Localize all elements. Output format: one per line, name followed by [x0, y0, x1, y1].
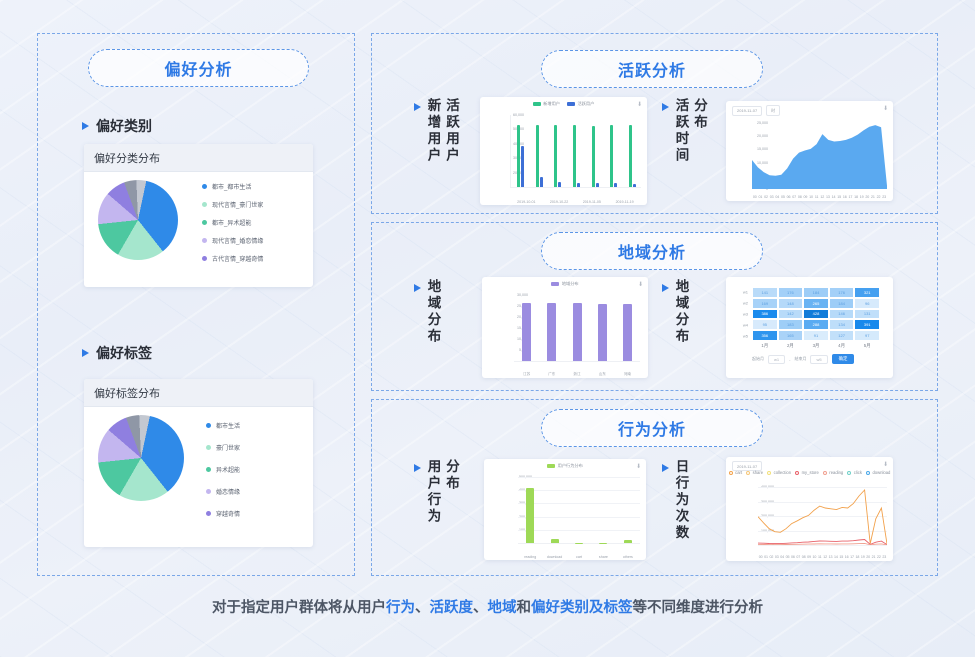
chart-legend: 地域分布	[482, 281, 648, 287]
legend-label: 现代言情_豪门世家	[212, 200, 263, 209]
section-title-preference: 偏好分析	[88, 49, 309, 87]
heatmap-column-labels: 1月2月3月4月5月	[752, 343, 880, 349]
bar	[547, 303, 556, 361]
heatmap-cell[interactable]: 141	[752, 287, 778, 298]
heatmap-cell[interactable]: 134	[829, 319, 855, 330]
legend-label: 现代言情_婚恋情缘	[212, 236, 263, 245]
legend-item: 古代言情_穿越奇情	[202, 254, 263, 263]
heatmap-cell[interactable]: 184	[829, 298, 855, 309]
heatmap-cell[interactable]: 184	[803, 287, 829, 298]
heading-daily-behavior-count: 日行为次数	[662, 459, 688, 542]
legend-item: 活跃用户	[567, 101, 594, 107]
legend-item: 穿越奇情	[206, 509, 240, 518]
legend-item: 地域分布	[551, 281, 578, 287]
bar	[573, 125, 576, 187]
pie-container	[98, 415, 184, 501]
triangle-bullet-icon	[662, 284, 669, 292]
heatmap-row-label: w5	[732, 333, 748, 338]
legend-item: reading	[823, 470, 843, 475]
heatmap-cell[interactable]: 91	[803, 330, 829, 341]
heatmap-geography: 1411761841763211691482651849638614242814…	[726, 277, 893, 378]
legend-item: 现代言情_豪门世家	[202, 200, 263, 209]
heatmap-cell[interactable]: 95	[752, 319, 778, 330]
legend-label: click	[854, 470, 862, 475]
card-title: 偏好标签分布	[84, 379, 313, 407]
legend-label: 穿越奇情	[216, 509, 240, 518]
heatmap-cell[interactable]: 356	[752, 330, 778, 341]
range-start-label: 起始月	[752, 356, 764, 362]
legend-label: 用户行为分布	[558, 463, 583, 469]
chart-legend: 用户行为分布	[484, 463, 646, 469]
triangle-bullet-icon	[82, 122, 89, 130]
x-axis-tick: others	[616, 555, 640, 559]
pie-chart-preference-tag: 都市生活豪门世家异术超能婚恋情缘穿越奇情	[84, 407, 313, 547]
heatmap-cell[interactable]: 146	[829, 309, 855, 320]
area-series	[752, 123, 887, 189]
legend-color-dot	[206, 445, 211, 450]
legend-label: 活跃用户	[578, 101, 595, 107]
download-icon[interactable]: ⬇	[638, 281, 643, 288]
legend-label: collection	[774, 470, 791, 475]
download-icon[interactable]: ⬇	[637, 101, 642, 108]
heading-label: 偏好类别	[96, 116, 152, 136]
card-active-time-area-chart: 2019-11-07时⬇25,00020,00015,00010,0005,00…	[726, 101, 893, 201]
bar	[614, 183, 617, 187]
triangle-bullet-icon	[662, 103, 669, 111]
vertical-label: 用户行为	[426, 459, 440, 525]
vertical-label-group: 活跃时间 分布	[674, 98, 706, 164]
heading-user-behavior-distribution: 用户行为 分布	[414, 459, 458, 525]
legend-label: 都市_都市生活	[212, 182, 251, 191]
heatmap-column-label: 4月	[829, 343, 855, 349]
triangle-bullet-icon	[414, 464, 421, 472]
bar	[575, 543, 583, 544]
download-icon[interactable]: ⬇	[636, 463, 641, 470]
x-axis-tick: 23	[882, 555, 887, 559]
vertical-label-group: 日行为次数	[674, 459, 688, 542]
legend-color-swatch	[533, 102, 541, 106]
legend-item: 都市_都市生活	[202, 182, 263, 191]
confirm-button[interactable]: 确定	[832, 354, 855, 364]
heatmap-cell[interactable]: 386	[752, 309, 778, 320]
pie-graphic	[98, 415, 184, 501]
legend-color-dot	[202, 202, 207, 207]
legend-item: cart	[729, 470, 742, 475]
x-axis-tick: 河南	[615, 372, 640, 377]
bar-chart-user-behavior: 用户行为分布⬇500,000400,000300,000200,000100,0…	[484, 459, 646, 560]
legend-color-dot	[206, 467, 211, 472]
bar	[536, 125, 539, 187]
pie-graphic	[98, 180, 178, 260]
heatmap-row-label: w4	[732, 322, 748, 327]
card-preference-tag-pie: 偏好标签分布 都市生活豪门世家异术超能婚恋情缘穿越奇情	[84, 379, 313, 547]
range-end-label: 结束月	[794, 356, 806, 362]
legend-label: cart	[735, 470, 742, 475]
heatmap-cell[interactable]: 288	[803, 319, 829, 330]
heatmap-cell[interactable]: 96	[854, 298, 880, 309]
range-end-field[interactable]: w5	[810, 355, 827, 364]
card-behavior-bar-chart: 用户行为分布⬇500,000400,000300,000200,000100,0…	[484, 459, 646, 560]
bar	[522, 303, 531, 361]
legend-label: my_store	[802, 470, 819, 475]
bar	[526, 488, 534, 543]
legend-color-swatch	[547, 464, 555, 468]
heading-geo-distribution-heatmap: 地域分布	[662, 279, 688, 345]
heatmap-cell[interactable]: 165	[778, 330, 804, 341]
heatmap-cell[interactable]: 321	[854, 287, 880, 298]
footer-prefix: 对于指定用户群体将从用户	[212, 600, 386, 616]
vertical-label: 地域分布	[426, 279, 440, 345]
infographic-stage: 偏好分析 偏好类别 偏好分类分布 都市_都市生活现代言情_豪门世家都市_异术超能…	[0, 0, 975, 657]
x-axis-tick: share	[591, 555, 615, 559]
legend-item: 异术超能	[206, 465, 240, 474]
card-activity-bar-chart: 新增用户活跃用户⬇60,00050,00040,00030,00020,0000…	[480, 97, 647, 205]
heatmap-row-label: w1	[732, 290, 748, 295]
x-axis-tick: 江苏	[514, 372, 539, 377]
legend-color-dot	[206, 511, 211, 516]
triangle-bullet-icon	[662, 464, 669, 472]
section-title-activity: 活跃分析	[541, 50, 763, 88]
range-start-field[interactable]: w1	[768, 355, 785, 364]
legend-color-dot	[202, 220, 207, 225]
bar	[599, 543, 607, 544]
vertical-label-group: 用户行为 分布	[426, 459, 458, 525]
plot-area	[510, 115, 641, 188]
legend-label: 新增用户	[543, 101, 560, 107]
legend-item: 现代言情_婚恋情缘	[202, 236, 263, 245]
heatmap-column-label: 1月	[752, 343, 778, 349]
plot-area	[518, 477, 640, 544]
legend-color-swatch	[866, 471, 870, 475]
bar	[592, 126, 595, 187]
vertical-label: 日行为次数	[674, 459, 688, 542]
heatmap-column-label: 2月	[778, 343, 804, 349]
x-axis-tick: 2019-10-01	[510, 200, 543, 204]
legend-label: 婚恋情缘	[216, 487, 240, 496]
vertical-label: 活跃时间	[674, 98, 688, 164]
x-axis-tick: 广东	[539, 372, 564, 377]
vertical-label: 分布	[693, 98, 707, 164]
chart-legend: cartsharecollectionmy_storereadingclickd…	[726, 470, 893, 475]
legend-label: 古代言情_穿越奇情	[212, 254, 263, 263]
bar	[596, 183, 599, 187]
heatmap-cell[interactable]: 169	[752, 298, 778, 309]
line-chart-daily-behavior: 2019-11-07cartsharecollectionmy_storerea…	[726, 457, 893, 561]
bar-chart-geography: 地域分布⬇30,00025,00020,00015,00010,0005,000…	[482, 277, 648, 378]
vertical-label: 新增用户	[426, 98, 440, 164]
triangle-bullet-icon	[82, 349, 89, 357]
download-icon[interactable]: ⬇	[883, 105, 888, 112]
footer-caption: 对于指定用户群体将从用户行为、活跃度、地域和偏好类别及标签等不同维度进行分析	[0, 596, 975, 617]
vertical-label-group: 新增用户 活跃用户	[426, 98, 458, 164]
footer-highlight-activity: 活跃度	[430, 600, 474, 616]
plot-area	[752, 123, 887, 189]
legend-item: 豪门世家	[206, 443, 240, 452]
pie-legend: 都市_都市生活现代言情_豪门世家都市_异术超能现代言情_婚恋情缘古代言情_穿越奇…	[202, 182, 263, 263]
legend-item: click	[847, 470, 862, 475]
legend-label: 都市生活	[216, 421, 240, 430]
heading-preference-tag: 偏好标签	[82, 343, 152, 363]
legend-color-dot	[202, 238, 207, 243]
x-axis: readingdownloadcartshareothers	[518, 555, 640, 559]
bar	[629, 125, 632, 187]
legend-item: 婚恋情缘	[206, 487, 240, 496]
bar-chart-new-active-users: 新增用户活跃用户⬇60,00050,00040,00030,00020,0000…	[480, 97, 647, 205]
card-title: 偏好分类分布	[84, 144, 313, 172]
heading-label: 偏好标签	[96, 343, 152, 363]
footer-suffix: 等不同维度进行分析	[633, 600, 764, 616]
bar	[573, 303, 582, 361]
x-axis-tick: download	[542, 555, 566, 559]
x-axis: 2019-10-012019-10-222019-11-052019-11-19	[510, 200, 641, 204]
plot-area	[758, 487, 887, 545]
footer-sep: 、	[473, 600, 488, 616]
legend-label: 地域分布	[562, 281, 579, 287]
heatmap-cell[interactable]: 265	[803, 298, 829, 309]
x-axis-tick: 2019-11-05	[576, 200, 609, 204]
vertical-label-group: 地域分布	[426, 279, 440, 345]
card-daily-behavior-line-chart: 2019-11-07cartsharecollectionmy_storerea…	[726, 457, 893, 561]
area-chart-active-time: 2019-11-07时⬇25,00020,00015,00010,0005,00…	[726, 101, 893, 201]
heatmap-range-controls: 起始月w1-结束月w5确定	[752, 354, 854, 364]
bar	[598, 304, 607, 361]
vertical-label: 分布	[445, 459, 459, 525]
x-axis-tick: 23	[881, 195, 887, 199]
bar	[521, 146, 524, 187]
footer-highlight-geography: 地域	[488, 600, 517, 616]
heatmap-cell[interactable]: 183	[778, 319, 804, 330]
legend-item: my_store	[795, 470, 819, 475]
bar	[558, 182, 561, 187]
vertical-label: 活跃用户	[445, 98, 459, 164]
x-axis-tick: 浙江	[564, 372, 589, 377]
legend-label: 豪门世家	[216, 443, 240, 452]
legend-label: download	[872, 470, 890, 475]
bar	[517, 125, 520, 187]
legend-item: 都市_异术超能	[202, 218, 263, 227]
heatmap-cell[interactable]: 142	[778, 309, 804, 320]
heading-active-time-distribution: 活跃时间 分布	[662, 98, 706, 164]
heatmap-cell[interactable]: 97	[854, 330, 880, 341]
bar	[554, 125, 557, 187]
pie-chart-preference-category: 都市_都市生活现代言情_豪门世家都市_异术超能现代言情_婚恋情缘古代言情_穿越奇…	[84, 172, 313, 287]
legend-color-swatch	[729, 471, 733, 475]
legend-label: reading	[829, 470, 843, 475]
heatmap-cell[interactable]: 391	[854, 319, 880, 330]
legend-item: 用户行为分布	[547, 463, 583, 469]
bar	[610, 125, 613, 187]
pie-container	[98, 180, 178, 260]
legend-color-dot	[202, 184, 207, 189]
line-series-group	[758, 487, 887, 545]
footer-sep: 和	[517, 600, 532, 616]
heatmap-cell[interactable]: 428	[803, 309, 829, 320]
pie-legend: 都市生活豪门世家异术超能婚恋情缘穿越奇情	[206, 421, 240, 518]
legend-color-dot	[206, 489, 211, 494]
x-axis: 0001020304050607080910111213141516171819…	[752, 195, 887, 199]
legend-color-swatch	[567, 102, 575, 106]
legend-color-swatch	[551, 282, 559, 286]
legend-color-swatch	[795, 471, 799, 475]
card-preference-category-pie: 偏好分类分布 都市_都市生活现代言情_豪门世家都市_异术超能现代言情_婚恋情缘古…	[84, 144, 313, 287]
x-axis: 0001020304050607080910111213141516171819…	[758, 555, 887, 559]
gridline	[758, 545, 887, 546]
triangle-bullet-icon	[414, 284, 421, 292]
heatmap-row-label: w2	[732, 301, 748, 306]
toolbar-field[interactable]: 时	[766, 105, 780, 116]
footer-sep: 、	[415, 600, 430, 616]
legend-color-swatch	[847, 471, 851, 475]
heatmap-cell[interactable]: 131	[854, 309, 880, 320]
heatmap-column-label: 3月	[803, 343, 829, 349]
section-title-behavior: 行为分析	[541, 409, 763, 447]
bar	[551, 539, 559, 543]
heatmap-cell[interactable]: 127	[829, 330, 855, 341]
legend-color-swatch	[746, 471, 750, 475]
bar	[540, 177, 543, 187]
x-axis-tick: 山东	[590, 372, 615, 377]
heatmap-cell[interactable]: 176	[829, 287, 855, 298]
heatmap-cell[interactable]: 176	[778, 287, 804, 298]
x-axis-tick: 2019-10-22	[543, 200, 576, 204]
legend-color-swatch	[823, 471, 827, 475]
x-axis-tick: reading	[518, 555, 542, 559]
legend-label: 都市_异术超能	[212, 218, 251, 227]
card-geography-bar-chart: 地域分布⬇30,00025,00020,00015,00010,0005,000…	[482, 277, 648, 378]
heatmap-cell[interactable]: 148	[778, 298, 804, 309]
heading-geo-distribution-bar: 地域分布	[414, 279, 440, 345]
bar	[633, 184, 636, 187]
legend-item: 都市生活	[206, 421, 240, 430]
bar	[577, 183, 580, 187]
footer-highlight-preference: 偏好类别及标签	[531, 600, 633, 616]
section-title-geography: 地域分析	[541, 232, 763, 270]
range-separator: -	[789, 357, 790, 362]
legend-label: 异术超能	[216, 465, 240, 474]
download-icon[interactable]: ⬇	[883, 461, 888, 468]
footer-highlight-behavior: 行为	[386, 600, 415, 616]
x-axis: 江苏广东浙江山东河南	[514, 372, 640, 377]
heading-preference-category: 偏好类别	[82, 116, 152, 136]
heading-new-and-active-users: 新增用户 活跃用户	[414, 98, 458, 164]
heatmap-column-label: 5月	[854, 343, 880, 349]
legend-item: 新增用户	[533, 101, 560, 107]
triangle-bullet-icon	[414, 103, 421, 111]
heatmap-grid: 1411761841763211691482651849638614242814…	[752, 287, 880, 341]
heatmap-row-label: w3	[732, 312, 748, 317]
x-axis-tick: cart	[567, 555, 591, 559]
x-axis-tick: 2019-11-19	[608, 200, 641, 204]
legend-color-dot	[206, 423, 211, 428]
bar	[623, 304, 632, 361]
legend-item: download	[866, 470, 890, 475]
legend-color-dot	[202, 256, 207, 261]
bar	[624, 540, 632, 543]
vertical-label-group: 地域分布	[674, 279, 688, 345]
card-geography-heatmap: 1411761841763211691482651849638614242814…	[726, 277, 893, 378]
vertical-label: 地域分布	[674, 279, 688, 345]
plot-area	[514, 295, 640, 362]
